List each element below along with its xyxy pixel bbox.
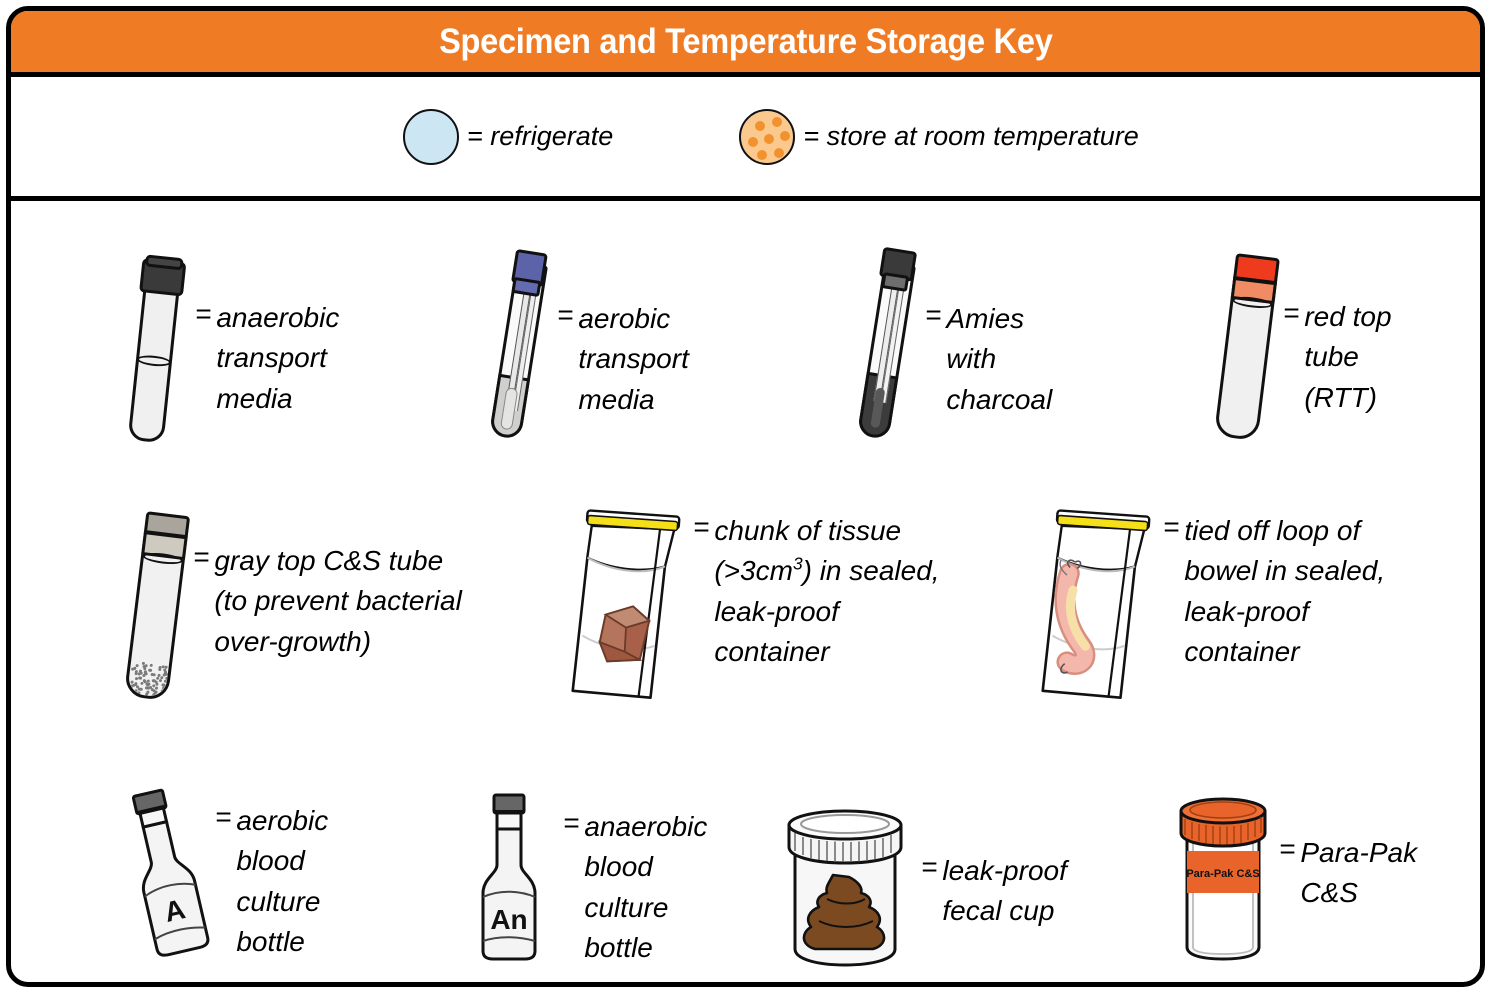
entry-leak-proof-fecal-cup: = leak-proof fecal cup bbox=[781, 807, 1067, 967]
amies-charcoal-swab-icon bbox=[859, 249, 921, 445]
entry-red-top-tube: = red top tube (RTT) bbox=[1213, 253, 1392, 439]
blue-circle-icon bbox=[403, 109, 459, 165]
gray-top-cs-tube-icon bbox=[123, 513, 189, 699]
entry-label: gray top C&S tube (to prevent bacterial … bbox=[214, 541, 461, 662]
key-card: Specimen and Temperature Storage Key = r… bbox=[6, 6, 1485, 987]
aerobic-blood-culture-bottle-icon: A bbox=[115, 787, 209, 959]
entry-label: red top tube (RTT) bbox=[1304, 297, 1391, 418]
legend-item-refrigerate: = refrigerate bbox=[403, 109, 613, 165]
equals-sign: = bbox=[557, 299, 573, 420]
equals-sign: = bbox=[1163, 511, 1179, 672]
entry-label: anaerobic blood culture bottle bbox=[584, 807, 707, 968]
entry-anaerobic-blood-culture-bottle: An = anaerobic blood culture bottle bbox=[463, 793, 707, 968]
fecal-cup-icon bbox=[781, 807, 913, 967]
equals-sign: = bbox=[925, 299, 941, 420]
tissue-line-2-pre: (>3cm bbox=[714, 555, 793, 586]
entry-label: Para-Pak C&S bbox=[1300, 833, 1417, 914]
entry-label: leak-proof fecal cup bbox=[942, 851, 1067, 932]
para-pak-label: Para-Pak C&S bbox=[1186, 868, 1259, 880]
entry-amies-with-charcoal: = Amies with charcoal bbox=[859, 249, 1052, 445]
entry-label: anaerobic transport media bbox=[216, 298, 339, 419]
entry-label: aerobic blood culture bottle bbox=[236, 801, 328, 962]
entry-label: Amies with charcoal bbox=[946, 299, 1052, 420]
legend-label-refrigerate: = refrigerate bbox=[467, 121, 613, 152]
equals-sign: = bbox=[195, 298, 211, 419]
equals-sign: = bbox=[1279, 833, 1295, 914]
header-bar: Specimen and Temperature Storage Key bbox=[11, 11, 1480, 77]
equals-sign: = bbox=[693, 511, 709, 672]
orange-dotted-circle-icon bbox=[739, 109, 795, 165]
red-top-tube-icon bbox=[1213, 253, 1279, 439]
equals-sign: = bbox=[193, 541, 209, 662]
entry-label: chunk of tissue (>3cm3) in sealed, leak-… bbox=[714, 511, 939, 672]
tissue-superscript: 3 bbox=[793, 554, 803, 574]
entry-label: aerobic transport media bbox=[578, 299, 689, 420]
equals-sign: = bbox=[563, 807, 579, 968]
entry-gray-top-cs-tube: = gray top C&S tube (to prevent bacteria… bbox=[123, 513, 462, 699]
equals-sign: = bbox=[921, 851, 937, 932]
tissue-line-4: container bbox=[714, 636, 829, 667]
tissue-line-1: chunk of tissue bbox=[714, 515, 901, 546]
aerobic-transport-swab-icon bbox=[491, 249, 553, 445]
bottle-label-an: An bbox=[490, 904, 527, 935]
anaerobic-transport-tube-icon bbox=[123, 256, 189, 446]
entry-aerobic-transport-media: = aerobic transport media bbox=[491, 249, 689, 445]
specimen-bag-tissue-icon bbox=[559, 501, 687, 701]
entry-label: tied off loop of bowel in sealed, leak-p… bbox=[1184, 511, 1385, 672]
legend-item-room-temperature: = store at room temperature bbox=[739, 109, 1138, 165]
entry-anaerobic-transport-media: = anaerobic transport media bbox=[123, 256, 339, 446]
legend-label-room-temperature: = store at room temperature bbox=[803, 121, 1138, 152]
entry-aerobic-blood-culture-bottle: A = aerobic blood culture bottle bbox=[115, 787, 328, 962]
specimen-bag-bowel-icon bbox=[1029, 501, 1157, 701]
anaerobic-blood-culture-bottle-icon: An bbox=[463, 793, 557, 965]
specimen-grid: = anaerobic transport media = aerobic tr… bbox=[11, 201, 1480, 987]
temperature-legend: = refrigerate = store at room temperatur… bbox=[11, 77, 1480, 201]
para-pak-container-icon: Para-Pak C&S bbox=[1171, 795, 1275, 955]
entry-tied-off-loop-of-bowel: = tied off loop of bowel in sealed, leak… bbox=[1029, 501, 1385, 701]
tissue-line-3: leak-proof bbox=[714, 596, 839, 627]
entry-chunk-of-tissue: = chunk of tissue (>3cm3) in sealed, lea… bbox=[559, 501, 940, 701]
page-title: Specimen and Temperature Storage Key bbox=[439, 22, 1052, 62]
tissue-line-2-post: ) in sealed, bbox=[803, 555, 940, 586]
equals-sign: = bbox=[1283, 297, 1299, 418]
entry-para-pak-cs: Para-Pak C&S = Para-Pak C&S bbox=[1171, 795, 1417, 955]
